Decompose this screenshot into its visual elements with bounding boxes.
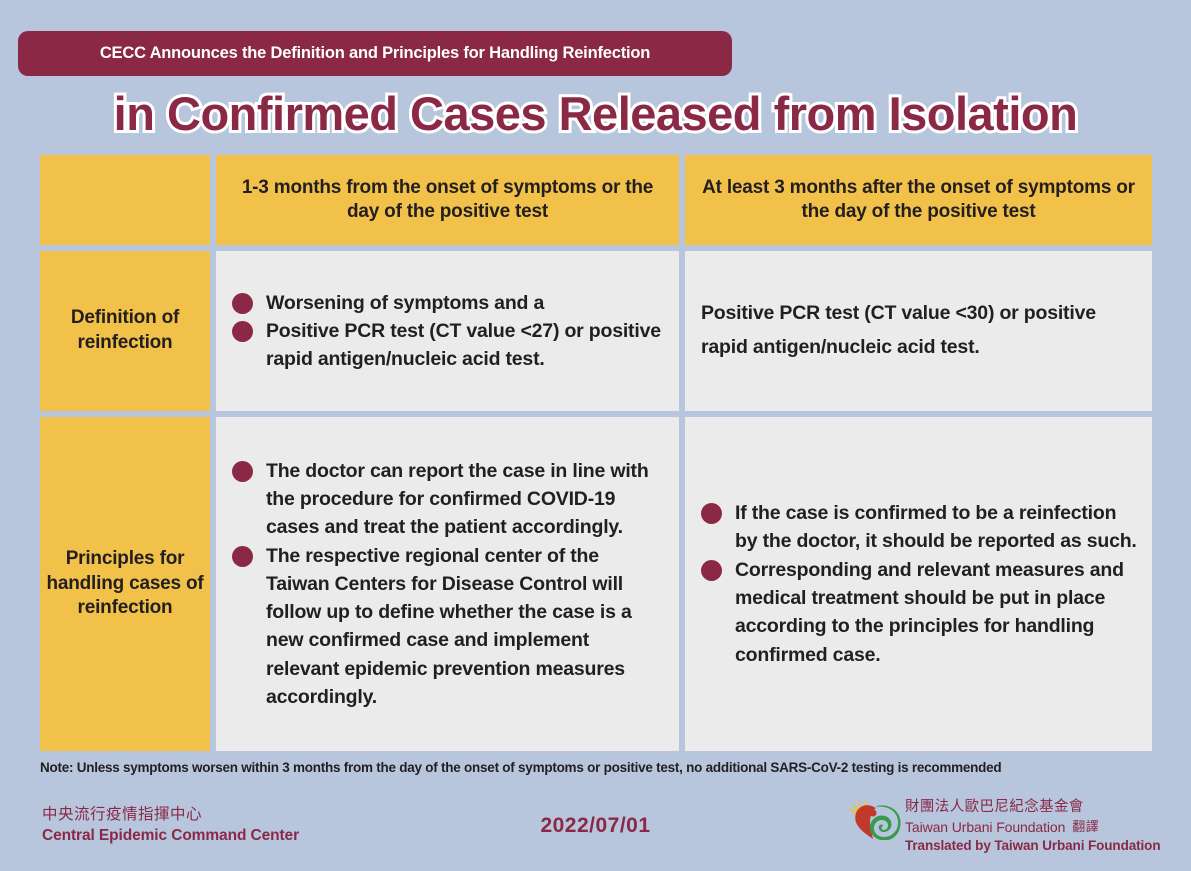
- row-label-definition: Definition of reinfection: [40, 251, 210, 411]
- bullet-dot-icon: [232, 293, 253, 314]
- translator-credit: 財團法人歐巴尼紀念基金會 Taiwan Urbani Foundation 翻譯…: [845, 798, 1160, 855]
- bullet-list: The doctor can report the case in line w…: [232, 457, 665, 711]
- cell-definition-col2: Positive PCR test (CT value <30) or posi…: [685, 251, 1152, 411]
- header-banner: CECC Announces the Definition and Princi…: [18, 31, 732, 76]
- column-header-2: At least 3 months after the onset of sym…: [685, 155, 1152, 245]
- translator-name-row: Taiwan Urbani Foundation 翻譯: [905, 816, 1160, 836]
- list-item: Corresponding and relevant measures and …: [701, 556, 1138, 669]
- page-title: in Confirmed Cases Released from Isolati…: [0, 86, 1191, 141]
- list-item-text: The respective regional center of the Ta…: [266, 545, 632, 708]
- row-label-principles-text: Principles for handling cases of reinfec…: [46, 547, 204, 621]
- translator-name-cn: 財團法人歐巴尼紀念基金會: [905, 798, 1160, 816]
- bullet-dot-icon: [232, 321, 253, 342]
- bullet-dot-icon: [701, 560, 722, 581]
- translator-tag-cn: 翻譯: [1072, 816, 1099, 835]
- cell-principles-col2: If the case is confirmed to be a reinfec…: [685, 417, 1152, 751]
- translator-text-block: 財團法人歐巴尼紀念基金會 Taiwan Urbani Foundation 翻譯…: [905, 798, 1160, 855]
- header-banner-text: CECC Announces the Definition and Princi…: [100, 44, 650, 63]
- reinfection-table: 1-3 months from the onset of symptoms or…: [40, 155, 1152, 751]
- list-item-text: The doctor can report the case in line w…: [266, 460, 649, 539]
- translated-by-text: Translated by Taiwan Urbani Foundation: [905, 837, 1160, 855]
- column-header-1-text: 1-3 months from the onset of symptoms or…: [230, 176, 665, 224]
- list-item: Worsening of symptoms and a: [232, 289, 665, 317]
- list-item: If the case is confirmed to be a reinfec…: [701, 499, 1138, 556]
- table-row: Principles for handling cases of reinfec…: [40, 417, 1152, 751]
- list-item-text: Positive PCR test (CT value <27) or posi…: [266, 320, 661, 370]
- list-item: The doctor can report the case in line w…: [232, 457, 665, 542]
- urbani-heart-spiral-logo-icon: [845, 798, 901, 840]
- cell-definition-col1: Worsening of symptoms and a Positive PCR…: [216, 251, 679, 411]
- list-item-text: If the case is confirmed to be a reinfec…: [735, 502, 1137, 552]
- list-item: Positive PCR test (CT value <27) or posi…: [232, 317, 665, 374]
- list-item-text: Corresponding and relevant measures and …: [735, 559, 1124, 666]
- bullet-list: Worsening of symptoms and a Positive PCR…: [232, 289, 665, 374]
- bullet-dot-icon: [701, 503, 722, 524]
- bullet-list: If the case is confirmed to be a reinfec…: [701, 499, 1138, 669]
- row-label-principles: Principles for handling cases of reinfec…: [40, 417, 210, 751]
- bullet-dot-icon: [232, 461, 253, 482]
- translator-name-en: Taiwan Urbani Foundation: [905, 819, 1065, 836]
- column-header-2-text: At least 3 months after the onset of sym…: [699, 176, 1138, 224]
- cell-principles-col1: The doctor can report the case in line w…: [216, 417, 679, 751]
- table-row: Definition of reinfection Worsening of s…: [40, 251, 1152, 411]
- footnote: Note: Unless symptoms worsen within 3 mo…: [40, 760, 1155, 775]
- list-item: The respective regional center of the Ta…: [232, 542, 665, 712]
- list-item-text: Worsening of symptoms and a: [266, 292, 544, 314]
- table-corner-cell: [40, 155, 210, 245]
- cell-definition-col2-text: Positive PCR test (CT value <30) or posi…: [701, 297, 1138, 364]
- row-label-definition-text: Definition of reinfection: [46, 306, 204, 355]
- bullet-dot-icon: [232, 546, 253, 567]
- table-header-row: 1-3 months from the onset of symptoms or…: [40, 155, 1152, 245]
- column-header-1: 1-3 months from the onset of symptoms or…: [216, 155, 679, 245]
